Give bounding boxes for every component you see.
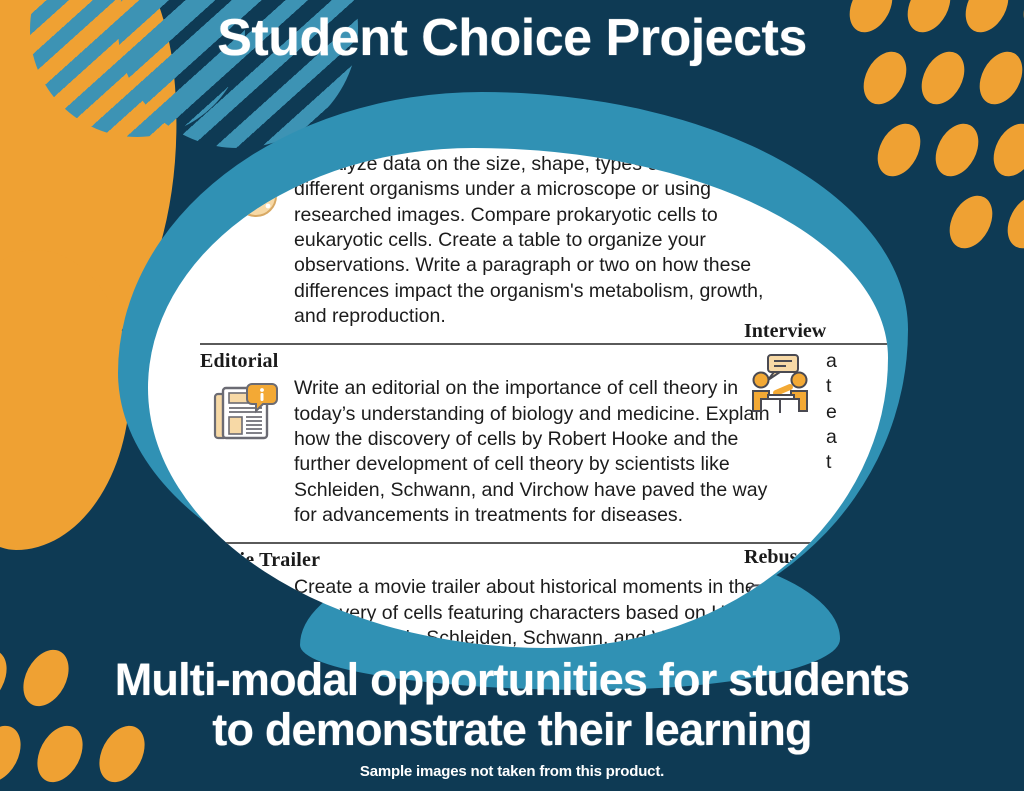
bar-chart-check-icon — [208, 154, 280, 226]
orange-dot — [927, 116, 987, 183]
orange-dot — [999, 188, 1024, 255]
disclaimer-text: Sample images not taken from this produc… — [0, 763, 1024, 780]
interview-two-people-icon — [744, 349, 816, 476]
right-column-text-fragment: ateat — [826, 349, 837, 476]
right-column-rebus: Rebus — [744, 546, 888, 642]
project-row-text: Create a movie trailer about historical … — [294, 575, 774, 648]
film-countdown-3-icon: 3 — [208, 577, 280, 648]
project-row-title: Rebus — [744, 546, 888, 569]
rebus-icon — [744, 624, 804, 641]
project-row-text: d analyze data on the size, shape, types… — [294, 152, 774, 329]
orange-dot — [985, 116, 1024, 183]
svg-text:3: 3 — [237, 600, 252, 633]
row-divider — [200, 542, 888, 544]
project-row-title: Interview — [744, 320, 888, 343]
right-column-interview: Interview — [744, 320, 888, 476]
project-row-body: d analyze data on the size, shape, types… — [200, 152, 888, 329]
subheadline: Multi-modal opportunities for students t… — [0, 655, 1024, 756]
newspaper-info-icon — [208, 378, 280, 450]
poster-canvas: d analyze data on the size, shape, types… — [0, 0, 1024, 791]
subheadline-line-2: to demonstrate their learning — [0, 705, 1024, 755]
project-row: d analyze data on the size, shape, types… — [200, 152, 888, 337]
project-choice-sheet: d analyze data on the size, shape, types… — [200, 148, 888, 648]
sample-document-blob: d analyze data on the size, shape, types… — [148, 148, 888, 648]
project-row-text: Write an editorial on the importance of … — [294, 376, 774, 528]
page-title: Student Choice Projects — [0, 8, 1024, 68]
orange-dot — [941, 188, 1001, 255]
subheadline-line-1: Multi-modal opportunities for students — [0, 655, 1024, 705]
